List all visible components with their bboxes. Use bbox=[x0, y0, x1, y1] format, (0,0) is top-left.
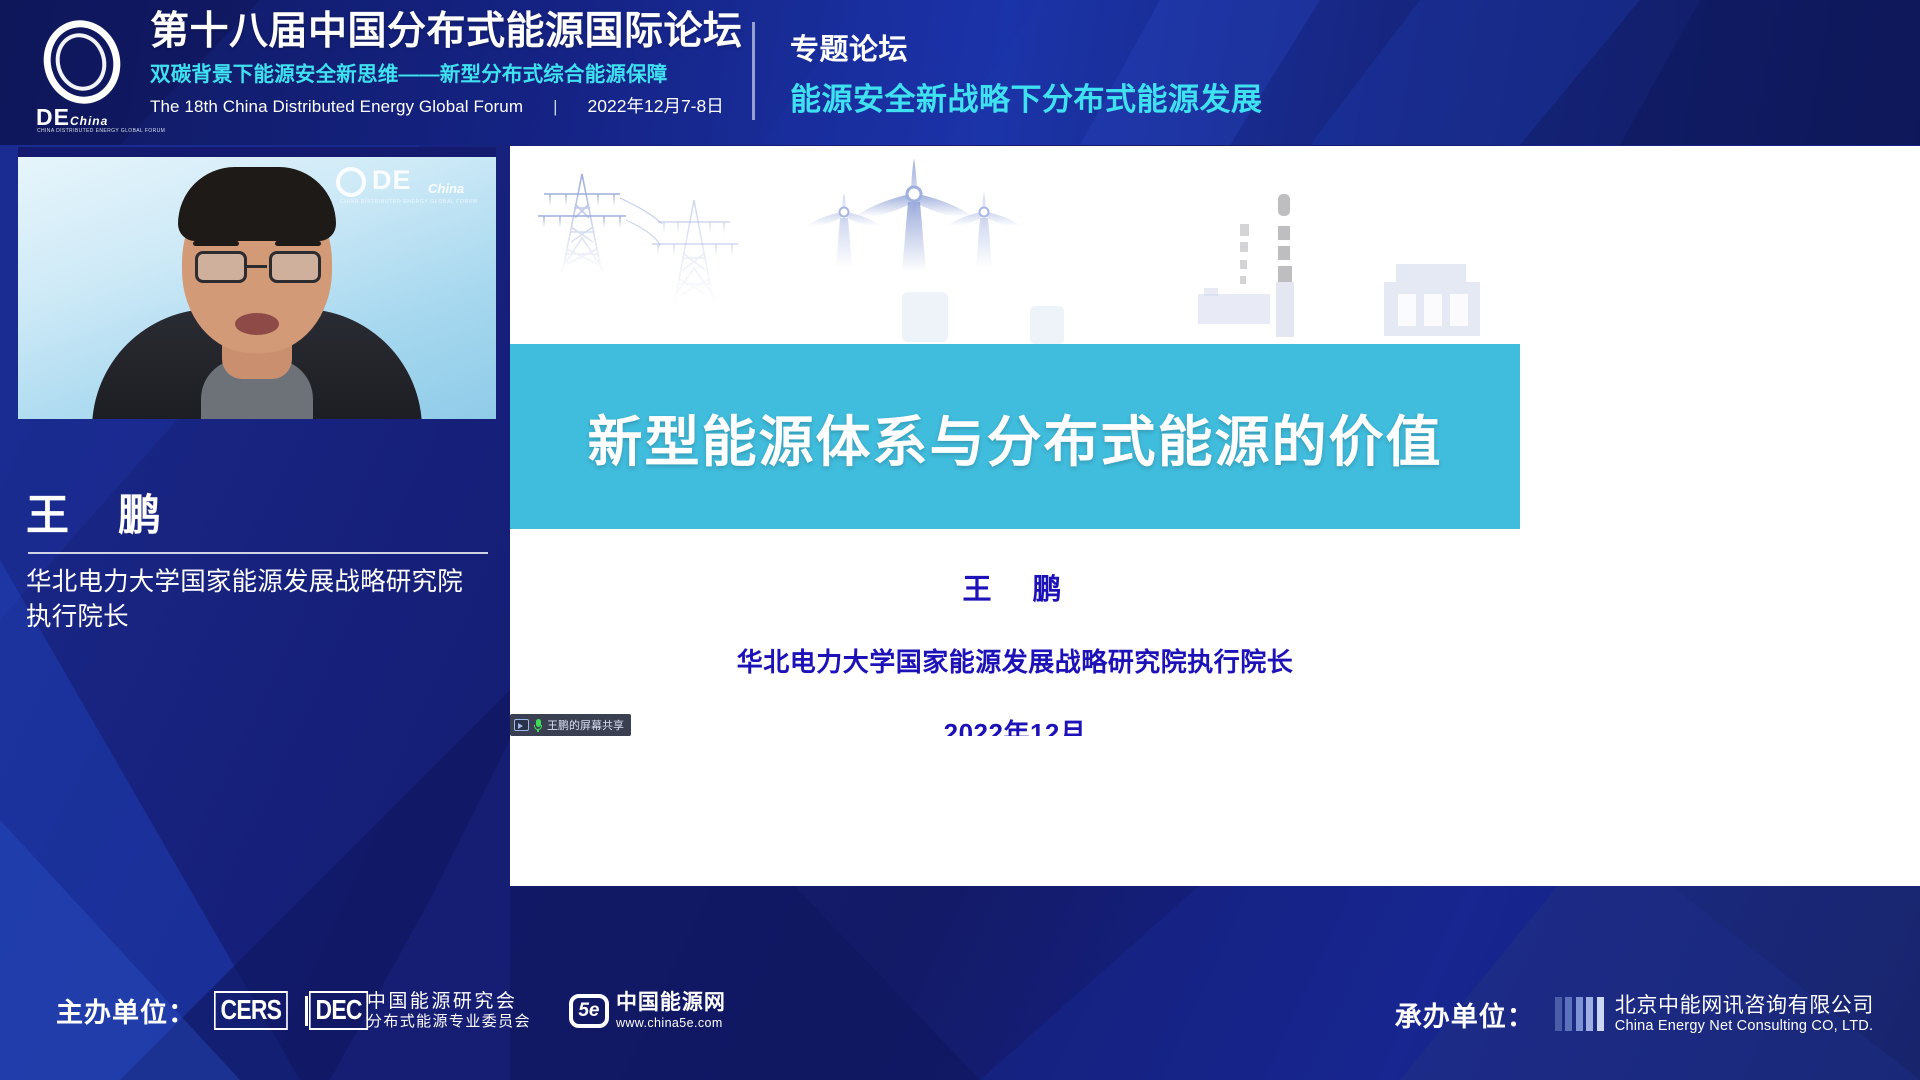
speaker-hair bbox=[178, 167, 336, 241]
de-china-logo: DEChina CHINA DISTRIBUTED ENERGY GLOBAL … bbox=[32, 18, 140, 130]
eyeglasses-bridge bbox=[247, 265, 267, 268]
cenc-logo: 北京中能网讯咨询有限公司 China Energy Net Consulting… bbox=[1555, 993, 1874, 1036]
cersdec-logo: CERS DEC 中国能源研究会 分布式能源专业委员会 bbox=[214, 991, 531, 1030]
eyeglasses-left-lens bbox=[195, 251, 247, 283]
microphone-icon[interactable] bbox=[534, 719, 542, 732]
speaker-org-line1: 华北电力大学国家能源发展战略研究院 bbox=[26, 565, 496, 600]
watermark-mark: DE bbox=[372, 165, 412, 196]
forum-subtitle-cn: 双碳背景下能源安全新思维——新型分布式综合能源保障 bbox=[150, 57, 735, 87]
slide-content-area: 新型能源体系与分布式能源的价值 王 鹏 华北电力大学国家能源发展战略研究院执行院… bbox=[510, 146, 1520, 736]
logo-mark-sub: China bbox=[70, 114, 108, 128]
watermark-tagline: CHINA DISTRIBUTED ENERGY GLOBAL FORUM bbox=[340, 199, 478, 205]
slide-author-name: 王 鹏 bbox=[510, 566, 1520, 608]
cersdec-right-mark: DEC bbox=[309, 991, 368, 1030]
speaker-name: 王 鹏 bbox=[26, 481, 164, 543]
screen-share-icon bbox=[514, 719, 529, 731]
session-label: 专题论坛 bbox=[790, 26, 1263, 68]
eyeglasses-right-lens bbox=[269, 251, 321, 283]
cenc-bars-icon bbox=[1555, 997, 1604, 1031]
forum-date: 2022年12月7-8日 bbox=[588, 93, 724, 118]
slide-date: 2022年12月 bbox=[510, 713, 1520, 736]
cenc-name: 北京中能网讯咨询有限公司 China Energy Net Consulting… bbox=[1615, 993, 1874, 1036]
speaker-mouth bbox=[235, 313, 279, 335]
slide-body: 王 鹏 华北电力大学国家能源发展战略研究院执行院长 2022年12月 bbox=[510, 529, 1520, 736]
organizer-label: 承办单位： bbox=[1395, 995, 1535, 1034]
session-topic: 能源安全新战略下分布式能源发展 bbox=[790, 74, 1263, 119]
host-section: 主办单位： CERS DEC 中国能源研究会 分布式能源专业委员会 5e 中国能… bbox=[56, 991, 726, 1030]
energy-infrastructure-illustration bbox=[510, 146, 1520, 346]
speaker-organization: 华北电力大学国家能源发展战略研究院 执行院长 bbox=[26, 565, 496, 635]
china5e-mark: 5e bbox=[569, 994, 609, 1028]
cersdec-separator bbox=[305, 996, 308, 1026]
cenc-en: China Energy Net Consulting CO, LTD. bbox=[1615, 1018, 1874, 1035]
china5e-url: www.china5e.com bbox=[616, 1016, 726, 1030]
cersdec-cn-line2: 分布式能源专业委员会 bbox=[367, 1013, 531, 1030]
event-header-banner: DEChina CHINA DISTRIBUTED ENERGY GLOBAL … bbox=[0, 0, 1920, 145]
speaker-info-panel: 王 鹏 华北电力大学国家能源发展战略研究院 执行院长 bbox=[0, 419, 500, 739]
watermark-ring-icon bbox=[336, 167, 366, 197]
slide-header-illustration bbox=[510, 146, 1520, 346]
screen-share-indicator[interactable]: 王鹏的屏幕共享 bbox=[510, 714, 631, 736]
logo-mark: DEChina bbox=[36, 106, 140, 129]
slide-title: 新型能源体系与分布式能源的价值 bbox=[587, 397, 1442, 477]
cersdec-left-mark: CERS bbox=[214, 991, 288, 1030]
video-top-strip bbox=[18, 147, 496, 157]
speaker-org-line2: 执行院长 bbox=[26, 600, 496, 635]
cenc-cn: 北京中能网讯咨询有限公司 bbox=[1615, 993, 1874, 1018]
speaker-eyebrow-right bbox=[275, 241, 321, 246]
screen-share-label: 王鹏的屏幕共享 bbox=[547, 717, 624, 733]
china5e-cn: 中国能源网 bbox=[616, 991, 726, 1015]
sponsor-footer: 主办单位： CERS DEC 中国能源研究会 分布式能源专业委员会 5e 中国能… bbox=[0, 975, 1920, 1080]
china5e-logo: 5e 中国能源网 www.china5e.com bbox=[569, 991, 726, 1030]
host-label: 主办单位： bbox=[56, 991, 196, 1030]
speaker-divider bbox=[28, 552, 488, 554]
slide-author-org: 华北电力大学国家能源发展战略研究院执行院长 bbox=[510, 642, 1520, 679]
header-separator: | bbox=[553, 97, 557, 117]
header-english-row: The 18th China Distributed Energy Global… bbox=[150, 93, 735, 118]
logo-tagline: CHINA DISTRIBUTED ENERGY GLOBAL FORUM bbox=[37, 128, 141, 134]
header-vertical-divider bbox=[752, 22, 755, 120]
slide-title-band: 新型能源体系与分布式能源的价值 bbox=[510, 344, 1520, 529]
forum-title-cn: 第十八届中国分布式能源国际论坛 bbox=[150, 10, 735, 54]
speaker-video-feed[interactable]: DE China CHINA DISTRIBUTED ENERGY GLOBAL… bbox=[18, 147, 496, 419]
header-right-block: 专题论坛 能源安全新战略下分布式能源发展 bbox=[790, 26, 1263, 119]
china5e-name: 中国能源网 www.china5e.com bbox=[616, 991, 726, 1030]
speaker-eyebrow-left bbox=[193, 241, 239, 246]
cersdec-cn-line1: 中国能源研究会 bbox=[367, 991, 531, 1013]
forum-title-en: The 18th China Distributed Energy Global… bbox=[150, 97, 523, 117]
organizer-section: 承办单位： 北京中能网讯咨询有限公司 China Energy Net Cons… bbox=[1395, 993, 1874, 1036]
screenshot-stage: DEChina CHINA DISTRIBUTED ENERGY GLOBAL … bbox=[0, 0, 1920, 1080]
cersdec-chinese-name: 中国能源研究会 分布式能源专业委员会 bbox=[367, 991, 531, 1030]
shared-screen-slide[interactable]: 新型能源体系与分布式能源的价值 王 鹏 华北电力大学国家能源发展战略研究院执行院… bbox=[510, 146, 1920, 886]
watermark-sub: China bbox=[428, 181, 464, 196]
de-china-watermark: DE China CHINA DISTRIBUTED ENERGY GLOBAL… bbox=[334, 161, 486, 209]
logo-mark-text: DE bbox=[36, 104, 70, 130]
header-left-block: 第十八届中国分布式能源国际论坛 双碳背景下能源安全新思维——新型分布式综合能源保… bbox=[150, 10, 735, 118]
